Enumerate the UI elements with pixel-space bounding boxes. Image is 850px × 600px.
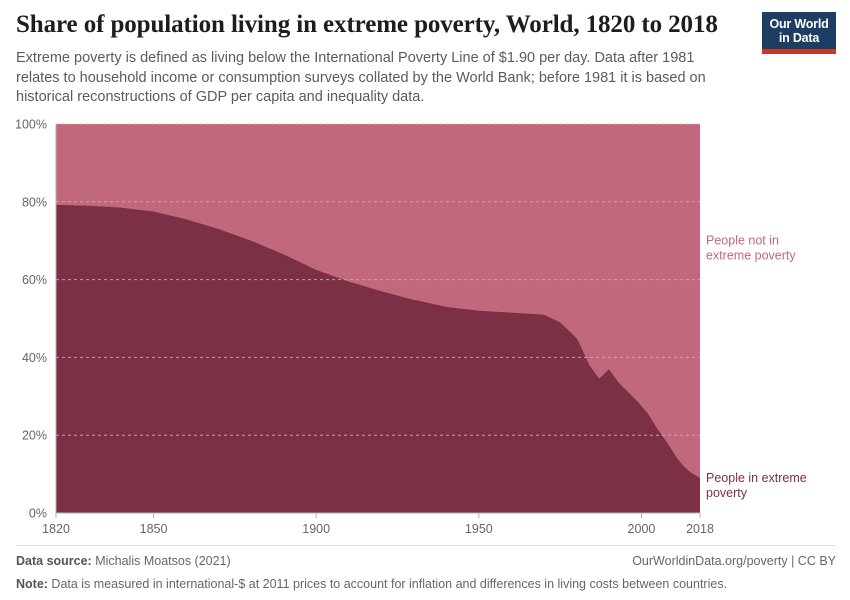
chart-page: Share of population living in extreme po… [0,0,850,600]
chart-header: Share of population living in extreme po… [16,10,756,108]
y-axis-tick-label: 0% [29,507,47,521]
series-label-not-in-poverty-line-2: extreme poverty [706,249,796,263]
y-axis-tick-label: 80% [22,195,47,209]
x-axis-tick-label: 1820 [42,522,70,536]
footer-divider [16,545,836,546]
series-labels-group: People not inextreme povertyPeople in ex… [706,234,807,500]
page-title: Share of population living in extreme po… [16,10,756,40]
note-label: Note: [16,577,48,591]
data-source-label: Data source: [16,554,92,568]
y-axis-tick-label: 40% [22,351,47,365]
series-label-not-in-poverty-line-1: People not in [706,234,779,248]
series-label-in-poverty-line-2: poverty [706,486,748,500]
chart-footer: Data source: Michalis Moatsos (2021) Our… [16,545,836,593]
area-series-group[interactable] [56,124,700,513]
note-value: Data is measured in international-$ at 2… [48,577,727,591]
footer-note-row: Note: Data is measured in international-… [16,576,836,593]
y-axis-tick-label: 20% [22,429,47,443]
data-source-value: Michalis Moatsos (2021) [92,554,231,568]
x-axis-ticks: 182018501900195020002018 [42,513,714,536]
x-axis-tick-label: 1900 [302,522,330,536]
y-axis-tick-label: 100% [15,118,47,132]
x-axis-tick-label: 2000 [628,522,656,536]
area-chart-svg[interactable]: 0%20%40%60%80%100% 182018501900195020002… [0,112,850,542]
logo-line-2: in Data [764,31,834,45]
owid-link[interactable]: OurWorldinData.org/poverty | CC BY [632,553,836,570]
x-axis-tick-label: 1950 [465,522,493,536]
chart-note: Note: Data is measured in international-… [16,576,727,593]
logo-line-1: Our World [764,17,834,31]
our-world-in-data-logo[interactable]: Our World in Data [762,12,836,54]
data-source: Data source: Michalis Moatsos (2021) [16,553,231,570]
x-axis-tick-label: 2018 [686,522,714,536]
chart-plot-area: 0%20%40%60%80%100% 182018501900195020002… [0,112,850,542]
footer-source-row: Data source: Michalis Moatsos (2021) Our… [16,553,836,570]
y-axis-ticks: 0%20%40%60%80%100% [15,118,47,521]
series-label-in-poverty-line-1: People in extreme [706,471,807,485]
y-axis-tick-label: 60% [22,273,47,287]
x-axis-tick-label: 1850 [140,522,168,536]
chart-subtitle: Extreme poverty is defined as living bel… [16,49,728,108]
